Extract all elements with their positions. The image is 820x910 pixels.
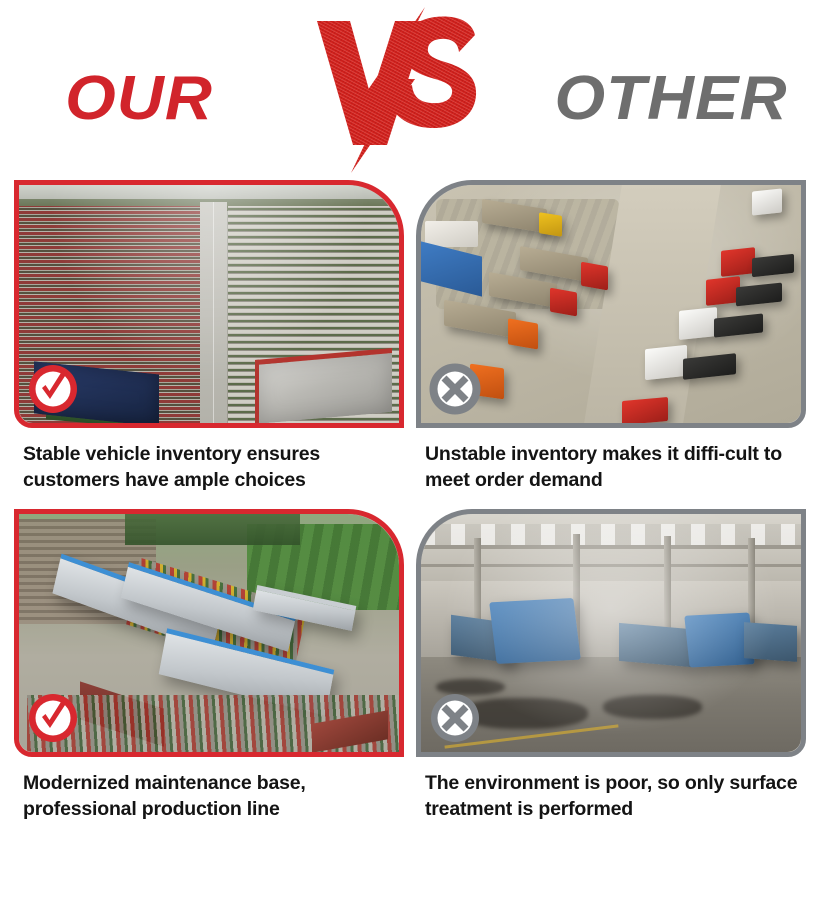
photo-frame-other-inventory (416, 180, 806, 428)
cross-badge-icon (429, 692, 481, 744)
comparison-cell-our-inventory: Stable vehicle inventory ensures custome… (14, 180, 404, 493)
header-other-label: OTHER (524, 68, 818, 130)
caption-our-inventory: Stable vehicle inventory ensures custome… (14, 442, 404, 493)
caption-our-facility: Modernized maintenance base, professiona… (14, 771, 404, 822)
comparison-cell-other-inventory: Unstable inventory makes it diffi-cult t… (416, 180, 806, 493)
header-our-label: OUR (3, 68, 276, 130)
photo-frame-our-inventory (14, 180, 404, 428)
check-badge-icon (27, 363, 79, 415)
comparison-cell-our-facility: Modernized maintenance base, professiona… (14, 509, 404, 822)
caption-other-inventory: Unstable inventory makes it diffi-cult t… (416, 442, 806, 493)
caption-other-facility: The environment is poor, so only surface… (416, 771, 806, 822)
vs-logo-icon (303, 5, 503, 175)
cross-badge-icon (429, 363, 481, 415)
check-badge-icon (27, 692, 79, 744)
comparison-grid: Stable vehicle inventory ensures custome… (0, 180, 820, 823)
comparison-cell-other-facility: The environment is poor, so only surface… (416, 509, 806, 822)
comparison-header: OUR OTHER (0, 0, 820, 180)
photo-frame-other-facility (416, 509, 806, 757)
photo-frame-our-facility (14, 509, 404, 757)
